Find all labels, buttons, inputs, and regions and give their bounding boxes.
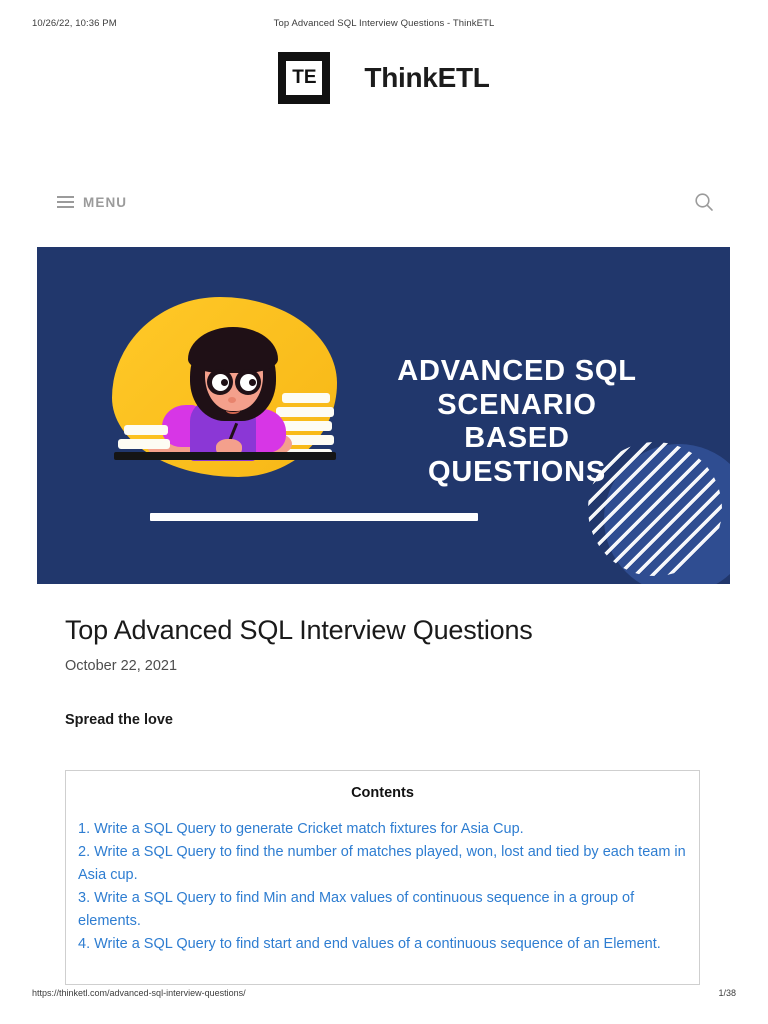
site-navbar: MENU — [0, 186, 768, 218]
glasses-icon — [207, 369, 273, 395]
menu-toggle-label: MENU — [83, 195, 127, 210]
logo-mark-icon: TE — [278, 52, 330, 104]
share-heading: Spread the love — [65, 712, 173, 728]
girl-studying-illustration — [112, 297, 347, 507]
contents-item[interactable]: 3. Write a SQL Query to find Min and Max… — [78, 887, 687, 933]
hero-headline: ADVANCED SQL SCENARIO BASED QUESTIONS — [337, 355, 697, 490]
contents-list: 1. Write a SQL Query to generate Cricket… — [78, 818, 687, 955]
brand-name: ThinkETL — [364, 62, 489, 94]
mouth — [226, 407, 240, 414]
hero-underline-bar — [150, 513, 478, 521]
logo-initials: TE — [286, 61, 322, 95]
book-stack-left — [116, 425, 172, 453]
desk-surface — [114, 452, 336, 460]
contents-heading: Contents — [78, 785, 687, 801]
publish-date: October 22, 2021 — [65, 658, 177, 674]
print-source-url: https://thinketl.com/advanced-sql-interv… — [32, 988, 246, 998]
site-logo[interactable]: TE ThinkETL — [0, 52, 768, 104]
search-icon[interactable] — [692, 190, 716, 214]
printed-page: 10/26/22, 10:36 PM Top Advanced SQL Inte… — [0, 0, 768, 1024]
table-of-contents: Contents 1. Write a SQL Query to generat… — [65, 770, 700, 985]
print-document-title: Top Advanced SQL Interview Questions - T… — [0, 18, 768, 29]
menu-toggle-button[interactable]: MENU — [57, 186, 127, 218]
hamburger-icon — [57, 196, 74, 208]
page-title: Top Advanced SQL Interview Questions — [65, 615, 705, 646]
nose — [228, 397, 236, 403]
contents-item[interactable]: 2. Write a SQL Query to find the number … — [78, 841, 687, 887]
print-page-number: 1/38 — [718, 988, 736, 998]
hero-headline-line-2: SCENARIO — [337, 389, 697, 423]
contents-item[interactable]: 1. Write a SQL Query to generate Cricket… — [78, 818, 687, 841]
hero-headline-line-1: ADVANCED SQL — [337, 355, 697, 389]
hero-headline-line-4: QUESTIONS — [337, 456, 697, 490]
print-footer: https://thinketl.com/advanced-sql-interv… — [0, 988, 768, 1000]
hero-headline-line-3: BASED — [337, 422, 697, 456]
contents-item[interactable]: 4. Write a SQL Query to find start and e… — [78, 933, 687, 956]
hero-banner: ADVANCED SQL SCENARIO BASED QUESTIONS — [37, 247, 730, 584]
print-header: 10/26/22, 10:36 PM Top Advanced SQL Inte… — [0, 16, 768, 30]
